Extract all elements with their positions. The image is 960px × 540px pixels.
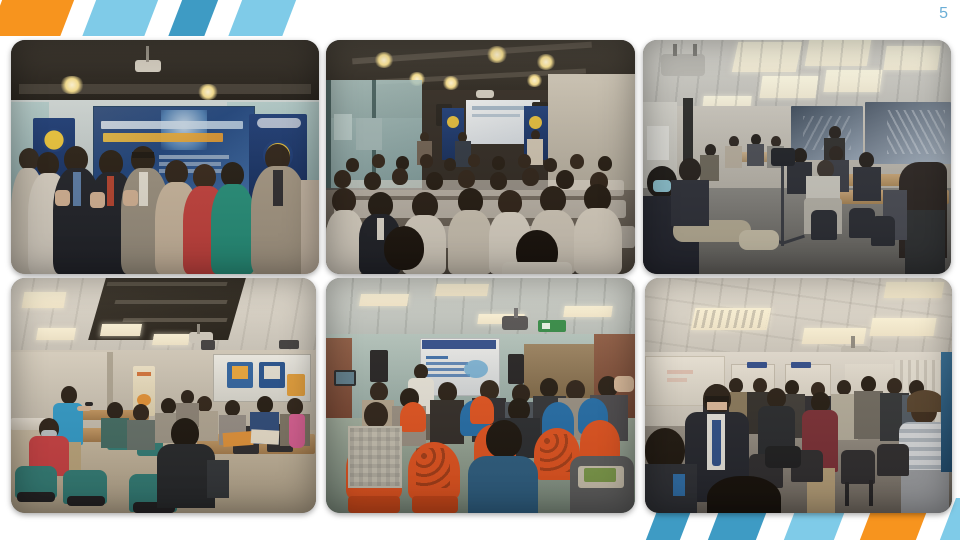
scene-group-portrait-rotary bbox=[11, 40, 319, 274]
gallery-photo-3[interactable] bbox=[643, 40, 951, 274]
scene-classroom-projector-tripod bbox=[643, 40, 951, 274]
slide-canvas: 5 bbox=[0, 0, 960, 540]
photo-reflection bbox=[11, 515, 316, 540]
photo-frame bbox=[11, 40, 319, 274]
photo-frame bbox=[326, 278, 635, 513]
scene-networking-office bbox=[645, 278, 952, 513]
page-number: 5 bbox=[939, 6, 948, 22]
gallery-photo-4[interactable] bbox=[11, 278, 316, 513]
gallery-photo-6[interactable] bbox=[645, 278, 952, 513]
photo-frame bbox=[11, 278, 316, 513]
gallery-photo-1[interactable] bbox=[11, 40, 319, 274]
scene-lecture-teal-chairs bbox=[11, 278, 316, 513]
photo-frame bbox=[645, 278, 952, 513]
scene-seminar-audience-loft bbox=[326, 40, 635, 274]
scene-lecture-orange-chairs bbox=[326, 278, 635, 513]
gallery-photo-5[interactable] bbox=[326, 278, 635, 513]
top-left-stripe-decoration bbox=[0, 0, 320, 36]
photo-reflection bbox=[645, 515, 952, 540]
photo-frame bbox=[643, 40, 951, 274]
photo-reflection bbox=[326, 515, 635, 540]
photo-frame bbox=[326, 40, 635, 274]
gallery-photo-2[interactable] bbox=[326, 40, 635, 274]
